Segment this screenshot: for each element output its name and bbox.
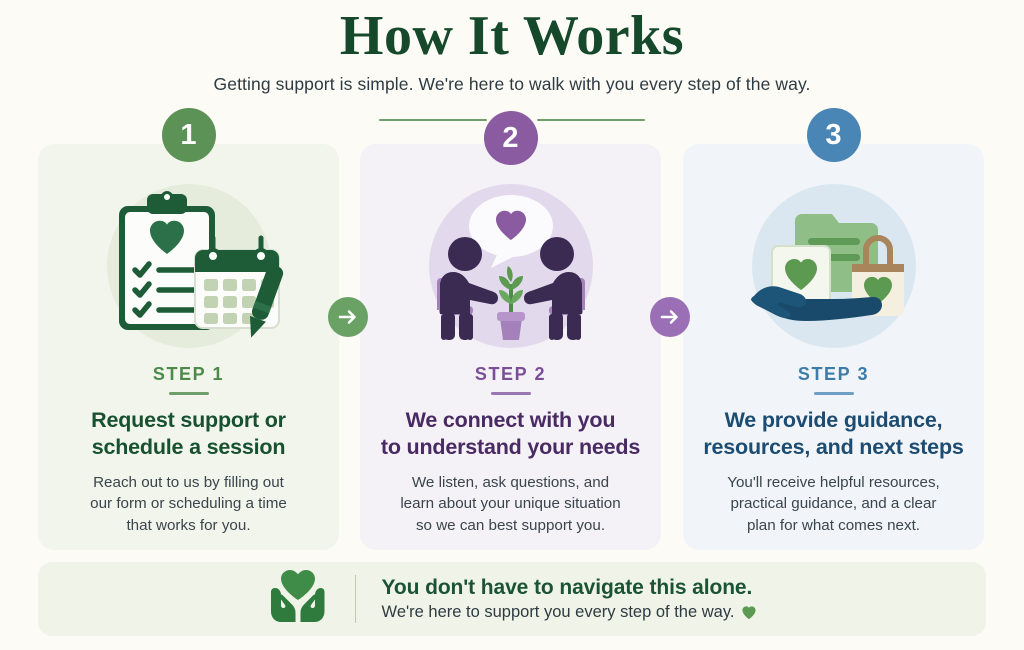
divider-line-right (537, 119, 645, 121)
step-badge-1: 1 (162, 108, 216, 162)
step-label-3: STEP 3 (699, 364, 968, 385)
step-body-2: We listen, ask questions, and learn abou… (376, 472, 645, 537)
step-body-1: Reach out to us by filling out our form … (54, 472, 323, 537)
step-heading-3-line2: resources, and next steps (699, 434, 968, 461)
step-label-2: STEP 2 (376, 364, 645, 385)
step-heading-3-line1: We provide guidance, (699, 407, 968, 434)
step-label-1: STEP 1 (54, 364, 323, 385)
arrow-right-icon (338, 308, 358, 326)
footer-subtitle: We're here to support you every step of … (382, 603, 735, 622)
step-badge-3: 3 (807, 108, 861, 162)
hand-holding-resources-icon (699, 178, 968, 354)
footer-banner: You don't have to navigate this alone. W… (38, 562, 986, 636)
step-underline-2 (491, 392, 531, 395)
step-card-3[interactable]: 3 STEP 3 W (683, 144, 984, 550)
step-body-3-line1: You'll receive helpful resources, (699, 472, 968, 494)
step-body-2-line2: learn about your unique situation (376, 493, 645, 515)
step-heading-3: We provide guidance, resources, and next… (699, 407, 968, 461)
two-people-conversation-icon (376, 178, 645, 354)
arrow-step-2-to-3 (650, 297, 690, 337)
divider-line-left (379, 119, 487, 121)
step-heading-2-line2: to understand your needs (376, 434, 645, 461)
step-body-3-line2: practical guidance, and a clear (699, 493, 968, 515)
page-subtitle: Getting support is simple. We're here to… (0, 74, 1024, 95)
hands-holding-heart-icon (267, 570, 329, 629)
steps-container: 1 (38, 144, 986, 550)
step-heading-2-line1: We connect with you (376, 407, 645, 434)
step-heading-2: We connect with you to understand your n… (376, 407, 645, 461)
footer-subtitle-row: We're here to support you every step of … (382, 603, 758, 622)
step-underline-1 (169, 392, 209, 395)
step-heading-1-line1: Request support or (54, 407, 323, 434)
step-body-3-line3: plan for what comes next. (699, 515, 968, 537)
step-body-2-line3: so we can best support you. (376, 515, 645, 537)
step-body-1-line2: our form or scheduling a time (54, 493, 323, 515)
arrow-step-1-to-2 (328, 297, 368, 337)
footer-divider (355, 575, 356, 623)
step-body-3: You'll receive helpful resources, practi… (699, 472, 968, 537)
arrow-right-icon (660, 308, 680, 326)
step-underline-3 (814, 392, 854, 395)
step-body-2-line1: We listen, ask questions, and (376, 472, 645, 494)
step-card-2[interactable]: 2 (360, 144, 661, 550)
page-title: How It Works (0, 4, 1024, 68)
step-body-1-line3: that works for you. (54, 515, 323, 537)
heart-icon (741, 605, 757, 620)
footer-text: You don't have to navigate this alone. W… (382, 576, 758, 622)
clipboard-calendar-pen-icon (54, 178, 323, 354)
step-body-1-line1: Reach out to us by filling out (54, 472, 323, 494)
step-badge-2: 2 (484, 111, 538, 165)
step-heading-1-line2: schedule a session (54, 434, 323, 461)
step-heading-1: Request support or schedule a session (54, 407, 323, 461)
step-card-1[interactable]: 1 (38, 144, 339, 550)
page-header: How It Works Getting support is simple. … (0, 0, 1024, 95)
footer-title: You don't have to navigate this alone. (382, 576, 758, 600)
